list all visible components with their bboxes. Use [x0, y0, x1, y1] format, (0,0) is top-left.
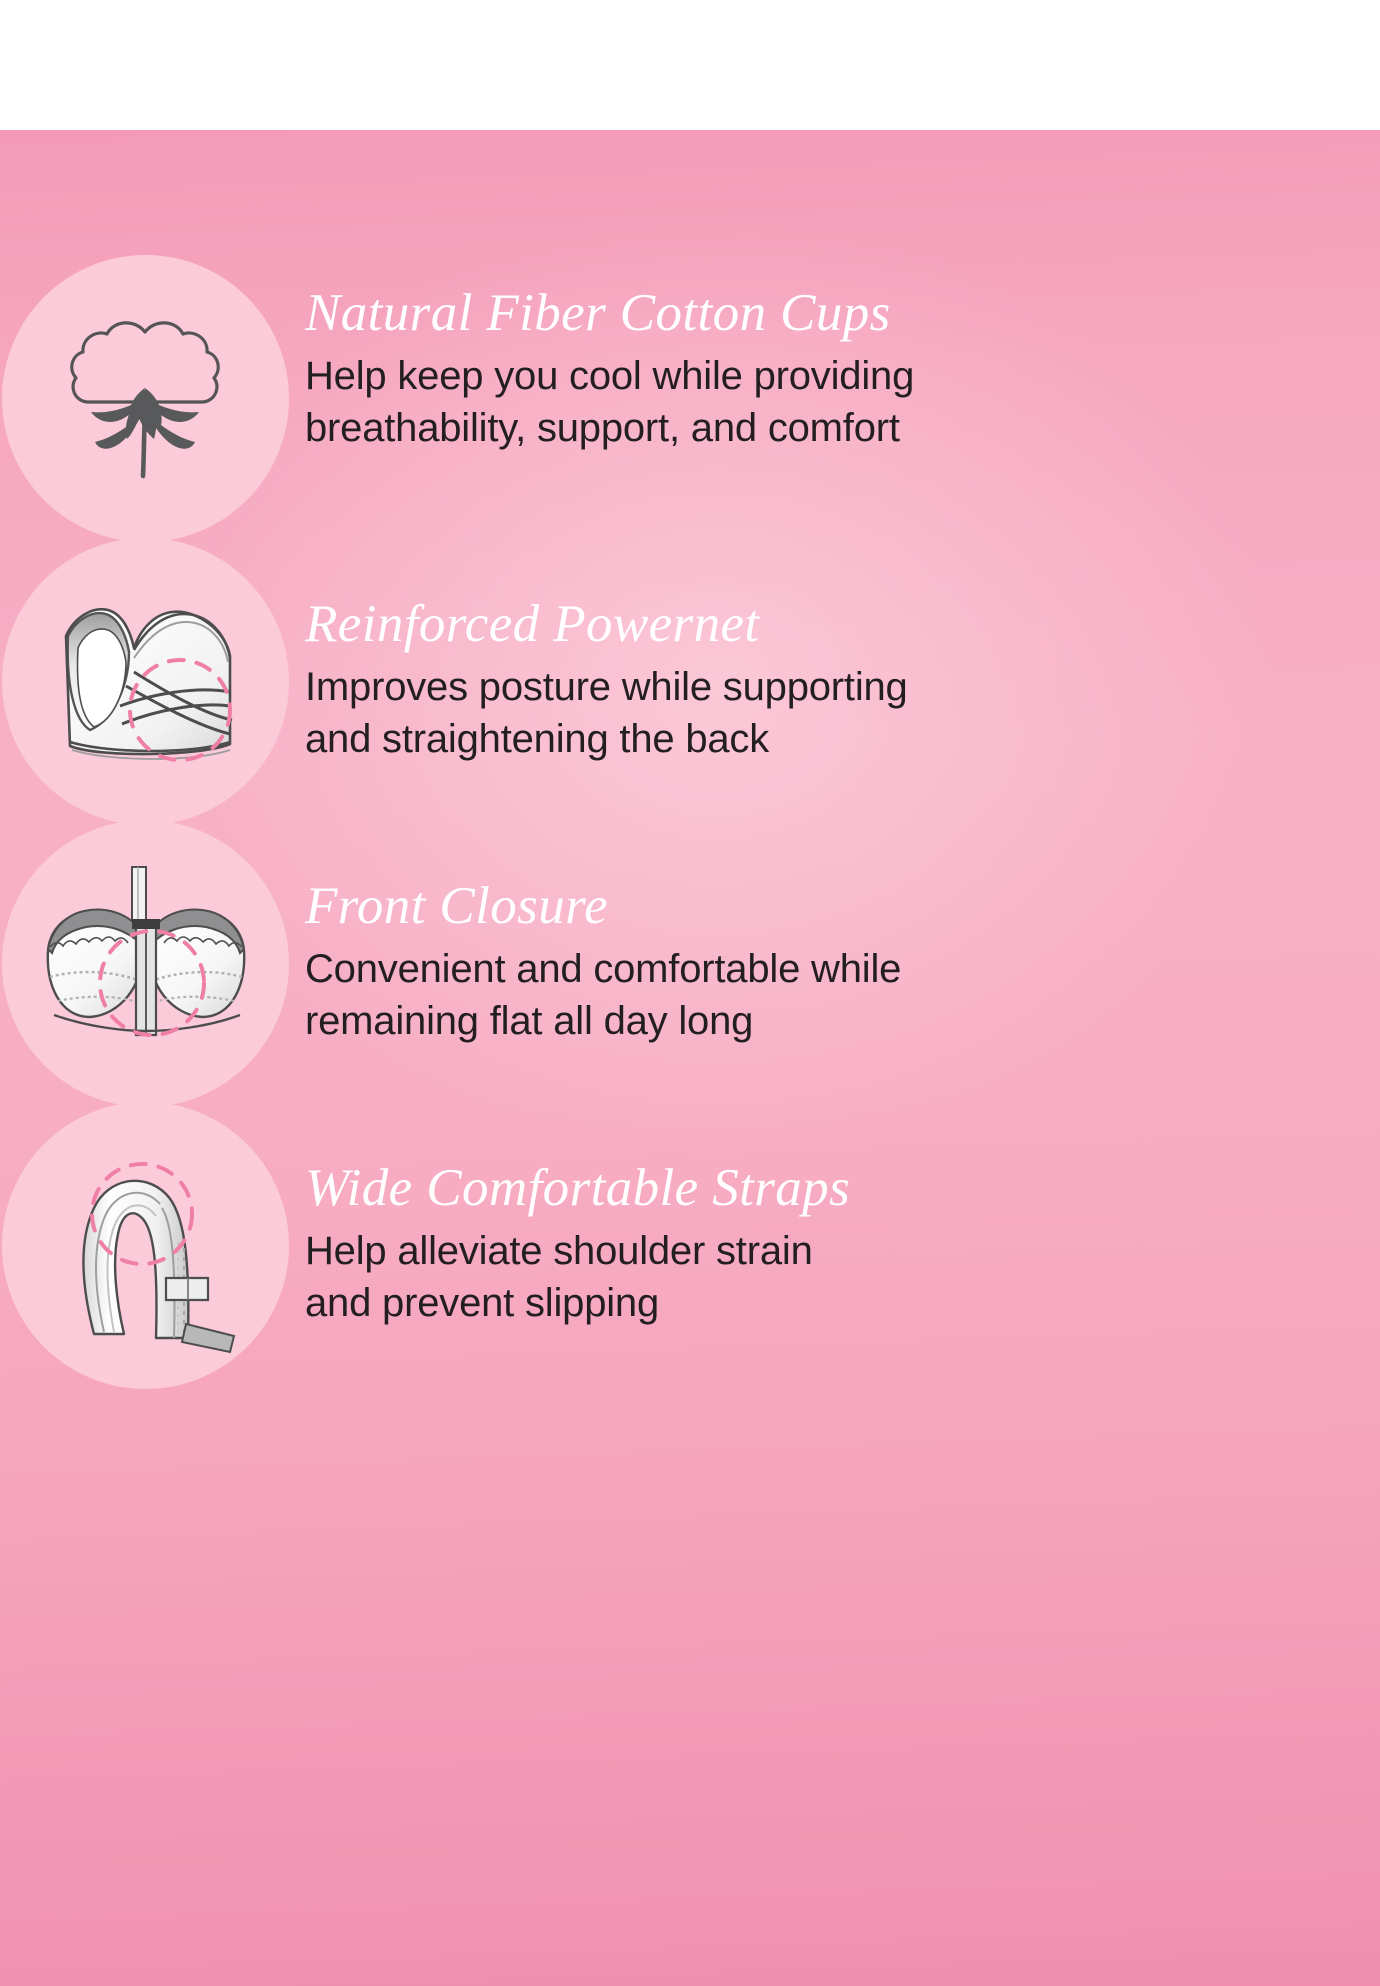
feature-description: Help keep you cool while providing breat…	[305, 350, 1340, 454]
feature-description-line: Convenient and comfortable while	[305, 943, 1340, 995]
feature-description: Convenient and comfortable while remaini…	[305, 943, 1340, 1047]
feature-description-line: Improves posture while supporting	[305, 661, 1340, 713]
feature-text-col: Natural Fiber Cotton Cups Help keep you …	[290, 255, 1380, 454]
feature-description-line: and straightening the back	[305, 713, 1340, 765]
feature-title: Front Closure	[305, 878, 1340, 934]
feature-icon-wrap	[0, 820, 290, 1107]
feature-title: Natural Fiber Cotton Cups	[305, 285, 1340, 341]
feature-text-col: Front Closure Convenient and comfortable…	[290, 820, 1380, 1047]
feature-icon-wrap	[0, 1102, 290, 1389]
feature-text-col: Wide Comfortable Straps Help alleviate s…	[290, 1102, 1380, 1329]
feature-icon-wrap	[0, 538, 290, 825]
feature-description-line: Help alleviate shoulder strain	[305, 1225, 1340, 1277]
bra-wide-strap-icon	[2, 1102, 289, 1389]
bra-powernet-back-icon	[2, 538, 289, 825]
feature-row: Natural Fiber Cotton Cups Help keep you …	[0, 255, 1380, 542]
feature-row: Reinforced Powernet Improves posture whi…	[0, 538, 1380, 825]
feature-description-line: Help keep you cool while providing	[305, 350, 1340, 402]
feature-description-line: breathability, support, and comfort	[305, 402, 1340, 454]
feature-row: Wide Comfortable Straps Help alleviate s…	[0, 1102, 1380, 1389]
bra-front-closure-icon	[2, 820, 289, 1107]
feature-description: Improves posture while supporting and st…	[305, 661, 1340, 765]
feature-description-line: and prevent slipping	[305, 1277, 1340, 1329]
feature-list: Natural Fiber Cotton Cups Help keep you …	[0, 130, 1380, 1986]
feature-text-col: Reinforced Powernet Improves posture whi…	[290, 538, 1380, 765]
feature-icon-wrap	[0, 255, 290, 542]
feature-title: Wide Comfortable Straps	[305, 1160, 1340, 1216]
feature-row: Front Closure Convenient and comfortable…	[0, 820, 1380, 1107]
product-feature-infographic: Natural Fiber Cotton Cups Help keep you …	[0, 0, 1380, 1986]
feature-title: Reinforced Powernet	[305, 596, 1340, 652]
feature-description: Help alleviate shoulder strain and preve…	[305, 1225, 1340, 1329]
feature-description-line: remaining flat all day long	[305, 995, 1340, 1047]
cotton-boll-icon	[2, 255, 289, 542]
